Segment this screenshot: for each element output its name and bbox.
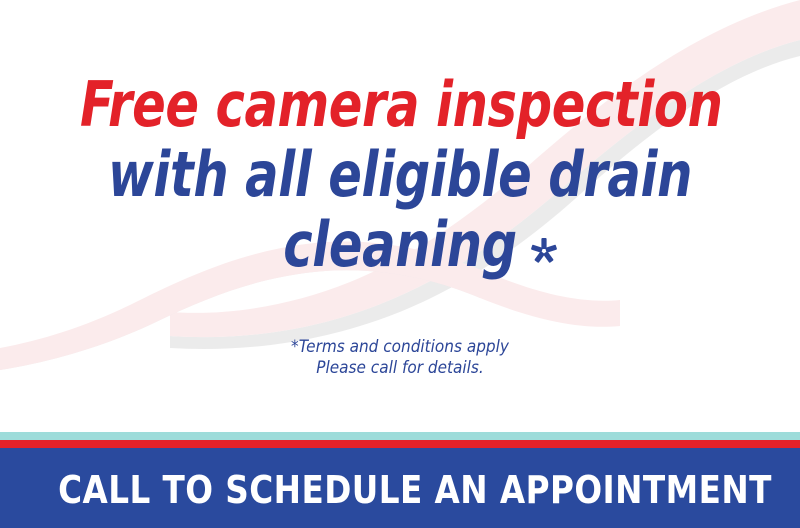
- headline-block: Free camera inspection with all eligible…: [0, 74, 800, 276]
- promo-banner: Free camera inspection with all eligible…: [0, 0, 800, 528]
- terms-line-2: Please call for details.: [40, 358, 760, 379]
- footer-cta-label-wrap: CALL TO SCHEDULE AN APPOINTMENT: [0, 468, 800, 512]
- terms-line-1: *Terms and conditions apply: [40, 337, 760, 358]
- footer-cta-label: CALL TO SCHEDULE AN APPOINTMENT: [58, 468, 772, 512]
- red-stripe: [0, 440, 800, 448]
- terms-block: *Terms and conditions apply Please call …: [0, 337, 800, 379]
- headline-line-1: Free camera inspection: [80, 74, 720, 136]
- headline-line-3: cleaning: [80, 214, 720, 276]
- asterisk-icon: [527, 234, 561, 268]
- teal-stripe: [0, 432, 800, 440]
- headline-line-2: with all eligible drain: [80, 144, 720, 206]
